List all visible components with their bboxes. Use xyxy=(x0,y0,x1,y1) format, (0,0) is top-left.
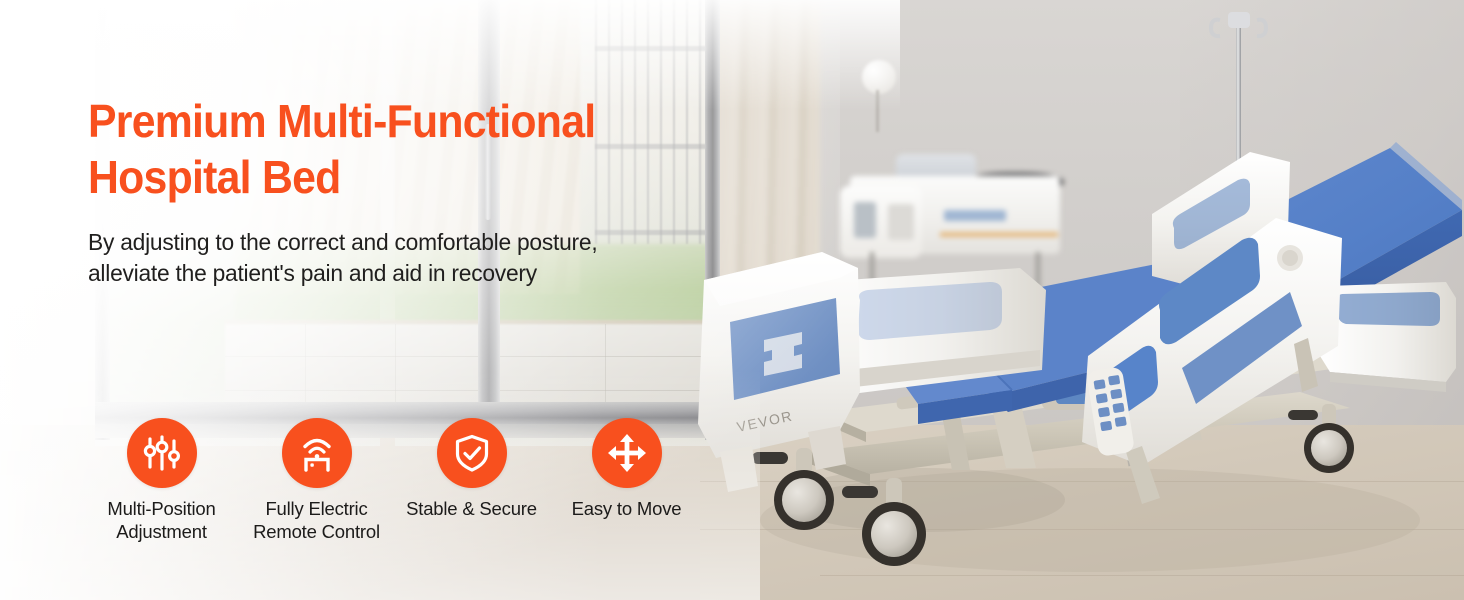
copy-block: Premium Multi-Functional Hospital Bed By… xyxy=(88,93,708,289)
product-banner: VEVOR Premium Multi-Functional Hospital … xyxy=(0,0,1464,600)
feature-multi-position-adjustment[interactable]: Multi-Position Adjustment xyxy=(84,418,239,543)
feature-icon-badge xyxy=(592,418,662,488)
feature-icon-badge xyxy=(437,418,507,488)
feature-label: Stable & Secure xyxy=(406,497,537,520)
feature-icon-badge xyxy=(127,418,197,488)
feature-icon-badge xyxy=(282,418,352,488)
subtitle: By adjusting to the correct and comforta… xyxy=(88,227,689,289)
move-arrows-icon xyxy=(606,432,648,474)
side-rail-far-right xyxy=(1320,282,1456,392)
sliders-icon xyxy=(141,432,183,474)
wifi-remote-icon xyxy=(296,432,338,474)
feature-label: Fully Electric Remote Control xyxy=(253,497,380,543)
feature-easy-to-move[interactable]: Easy to Move xyxy=(549,418,704,520)
feature-label: Easy to Move xyxy=(572,497,682,520)
feature-fully-electric-remote-control[interactable]: Fully Electric Remote Control xyxy=(239,418,394,543)
feature-list: Multi-Position Adjustment Fully Electric… xyxy=(84,418,704,543)
feature-stable-and-secure[interactable]: Stable & Secure xyxy=(394,418,549,520)
shield-check-icon xyxy=(451,432,493,474)
page-title: Premium Multi-Functional Hospital Bed xyxy=(88,93,665,205)
feature-label: Multi-Position Adjustment xyxy=(107,497,215,543)
